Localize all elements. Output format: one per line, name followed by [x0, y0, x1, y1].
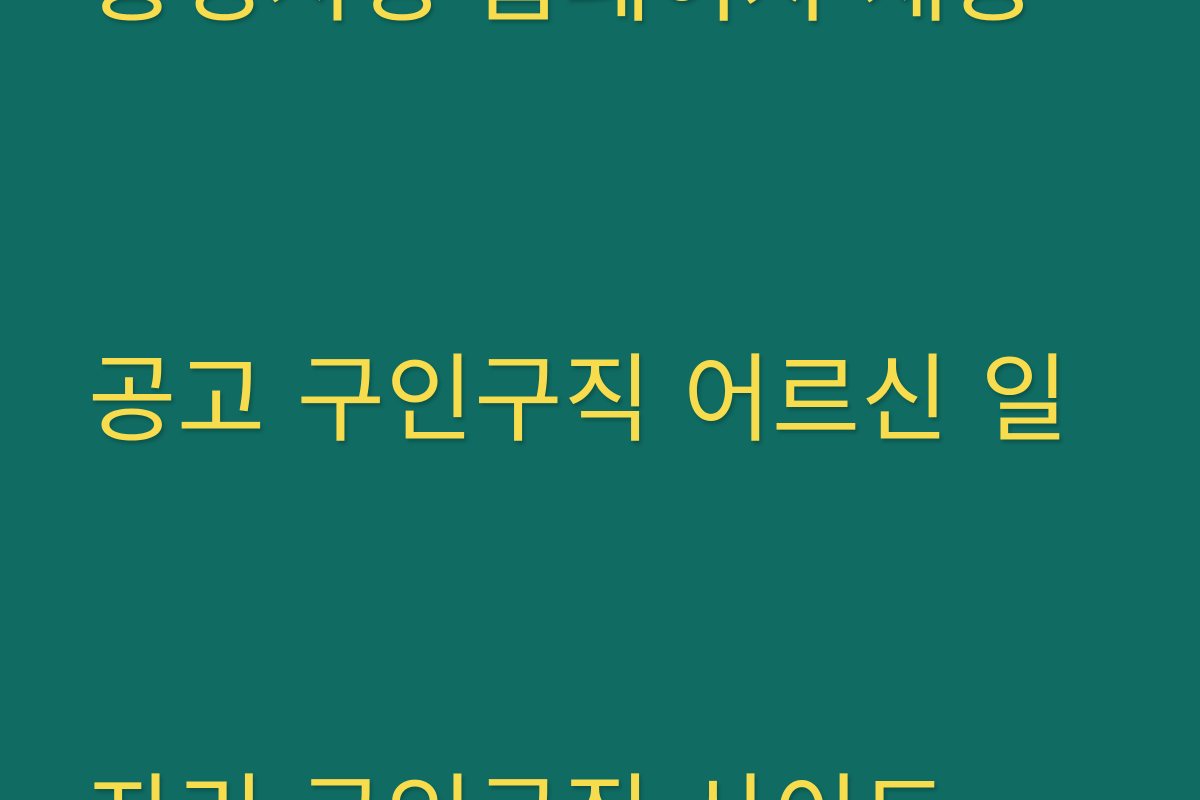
headline-line-2: 공고 구인구직 어르신 일 — [88, 330, 1130, 470]
headline-line-1: 통영시청 홈페이지 채용 — [88, 0, 1130, 50]
text-banner-card: 통영시청 홈페이지 채용 공고 구인구직 어르신 일 자리 구인구직 사이트⋯ — [0, 0, 1200, 800]
truncation-ellipsis: ⋯ — [949, 764, 1052, 800]
headline-line-3: 자리 구인구직 사이트 — [88, 764, 949, 800]
headline-text-block: 통영시청 홈페이지 채용 공고 구인구직 어르신 일 자리 구인구직 사이트⋯ — [0, 0, 1200, 800]
headline-line-3-wrapper: 자리 구인구직 사이트⋯ — [88, 750, 1130, 800]
